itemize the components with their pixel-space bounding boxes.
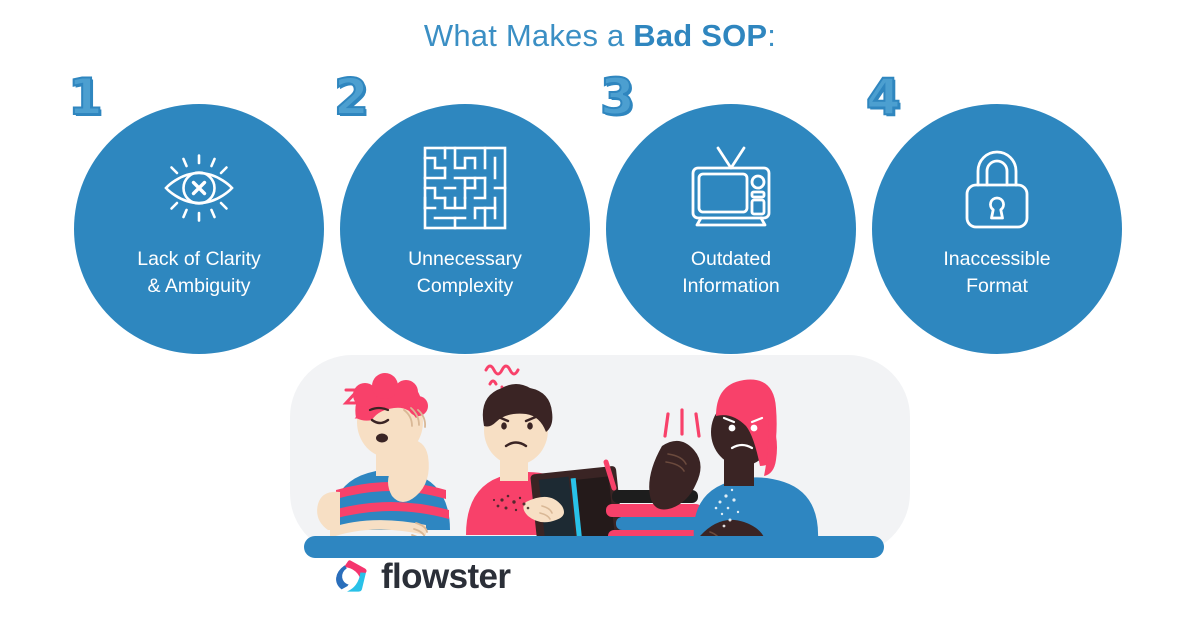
card-label-4: Inaccessible Format (887, 246, 1107, 299)
reason-card-1[interactable]: 1 Lack of Clar (62, 72, 326, 357)
reason-card-4[interactable]: 4 Inaccessible Format (860, 72, 1124, 357)
card-circle-1: Lack of Clarity & Ambiguity (74, 104, 324, 354)
eye-x-icon (151, 140, 247, 236)
card-circle-2: Unnecessary Complexity (340, 104, 590, 354)
reason-card-2[interactable]: 2 Unnecessary Complexity (328, 72, 592, 357)
flowster-logo-icon (332, 557, 370, 595)
anger-lines (665, 410, 699, 436)
maze-icon (417, 140, 513, 236)
page-title: What Makes a Bad SOP: (424, 18, 776, 54)
flowster-wordmark: flowster (381, 559, 510, 594)
card-label-2: Unnecessary Complexity (355, 246, 575, 299)
card-number-4: 4 (866, 72, 901, 122)
desk-surface (304, 536, 884, 558)
card-circle-4: Inaccessible Format (872, 104, 1122, 354)
retro-tv-icon (683, 140, 779, 236)
header: What Makes a Bad SOP: (0, 0, 1200, 72)
card-number-3: 3 (600, 72, 635, 122)
card-label-3: Outdated Information (621, 246, 841, 299)
reason-card-3[interactable]: 3 Outdated Information (594, 72, 858, 357)
card-number-2: 2 (334, 72, 369, 122)
page-title-prefix: What Makes a (424, 18, 633, 53)
card-label-1: Lack of Clarity & Ambiguity (89, 246, 309, 299)
padlock-icon (949, 140, 1045, 236)
illustration-frustrated-team (290, 350, 910, 560)
card-circle-3: Outdated Information (606, 104, 856, 354)
reasons-card-row: 1 Lack of Clar (0, 72, 1200, 357)
page-title-strong: Bad SOP (633, 18, 767, 53)
flowster-logo[interactable]: flowster (332, 557, 510, 595)
card-number-1: 1 (68, 72, 103, 122)
page-title-suffix: : (767, 18, 776, 53)
